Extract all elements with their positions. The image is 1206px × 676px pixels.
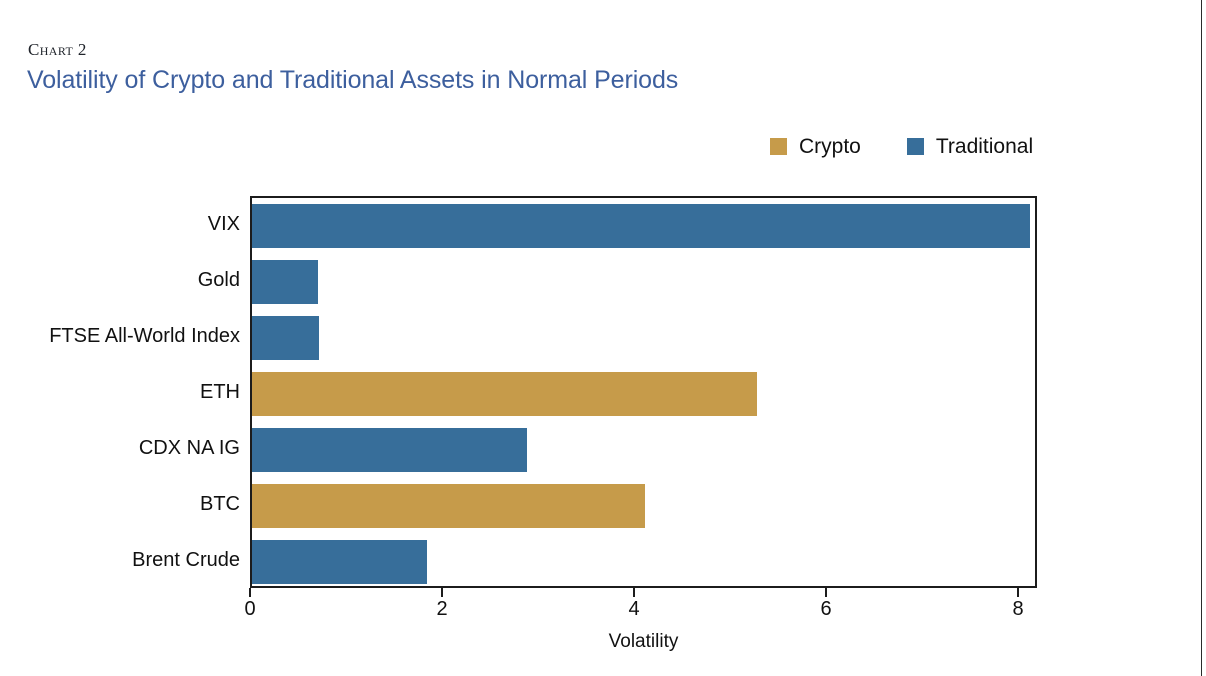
legend-label-crypto: Crypto: [799, 136, 861, 157]
bar-ftse-all-world-index[interactable]: [252, 316, 319, 360]
bar-row: [252, 540, 1035, 584]
x-tick-label-8: 8: [1012, 599, 1023, 619]
bar-cdx-na-ig[interactable]: [252, 428, 527, 472]
y-axis-label-gold: Gold: [0, 270, 240, 290]
legend-swatch-crypto: [770, 138, 787, 155]
chart-legend: CryptoTraditional: [770, 133, 1033, 159]
x-tick-label-4: 4: [628, 599, 639, 619]
bar-row: [252, 204, 1035, 248]
bar-row: [252, 316, 1035, 360]
legend-item-crypto[interactable]: Crypto: [770, 136, 861, 157]
y-axis-label-brent-crude: Brent Crude: [0, 550, 240, 570]
y-axis-label-vix: VIX: [0, 214, 240, 234]
page-title: Volatility of Crypto and Traditional Ass…: [27, 66, 678, 95]
bar-row: [252, 428, 1035, 472]
plot-area: [250, 196, 1037, 588]
x-axis-title: Volatility: [250, 631, 1037, 653]
y-axis-label-eth: ETH: [0, 382, 240, 402]
y-axis-label-btc: BTC: [0, 494, 240, 514]
legend-label-traditional: Traditional: [936, 136, 1033, 157]
bar-brent-crude[interactable]: [252, 540, 427, 584]
bar-gold[interactable]: [252, 260, 318, 304]
bar-row: [252, 372, 1035, 416]
y-axis-label-cdx-na-ig: CDX NA IG: [0, 438, 240, 458]
legend-item-traditional[interactable]: Traditional: [907, 136, 1033, 157]
x-tick-mark-6: [825, 588, 827, 597]
x-tick-mark-4: [633, 588, 635, 597]
chart-page: Chart 2 Volatility of Crypto and Traditi…: [0, 0, 1206, 676]
bars-container: [252, 198, 1035, 586]
legend-swatch-traditional: [907, 138, 924, 155]
bar-btc[interactable]: [252, 484, 645, 528]
x-tick-label-0: 0: [244, 599, 255, 619]
bar-vix[interactable]: [252, 204, 1030, 248]
x-tick-mark-8: [1017, 588, 1019, 597]
x-tick-mark-2: [441, 588, 443, 597]
x-tick-label-2: 2: [436, 599, 447, 619]
y-axis-label-ftse-all-world-index: FTSE All-World Index: [0, 326, 240, 346]
bar-row: [252, 260, 1035, 304]
x-tick-label-6: 6: [820, 599, 831, 619]
page-edge-rule: [1201, 0, 1202, 676]
x-axis-ticks: 02468: [250, 588, 1037, 598]
bar-eth[interactable]: [252, 372, 757, 416]
bar-row: [252, 484, 1035, 528]
chart-kicker: Chart 2: [28, 40, 87, 60]
x-tick-mark-0: [249, 588, 251, 597]
y-axis-labels: VIXGoldFTSE All-World IndexETHCDX NA IGB…: [0, 196, 240, 588]
